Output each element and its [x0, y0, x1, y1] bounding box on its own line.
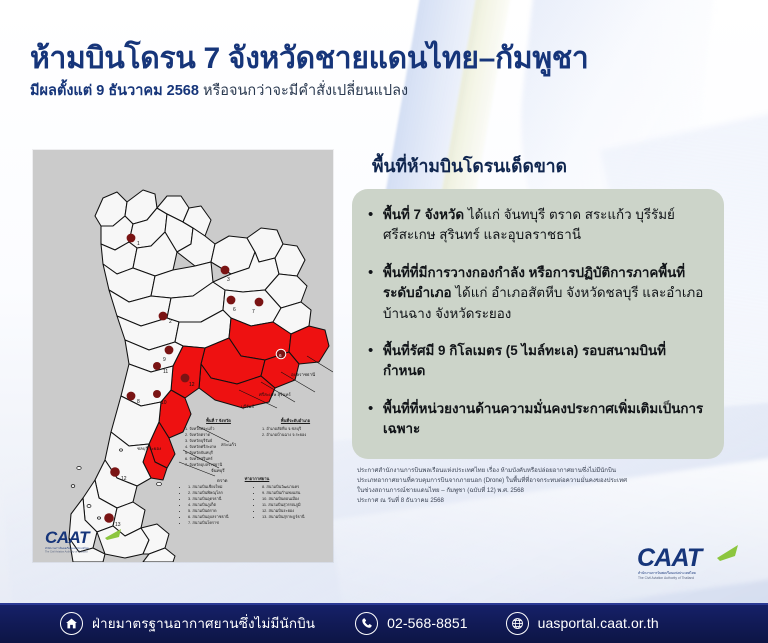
home-icon-svg	[65, 617, 78, 630]
svg-text:CAAT: CAAT	[45, 528, 91, 547]
legend-item: 7. จังหวัดอุบลราชธานี	[185, 462, 254, 468]
bullet-bold-text: พื้นที่ 7 จังหวัด	[383, 207, 464, 222]
map-legend: พื้นที่ 7 จังหวัด 1. จังหวัดสระแก้ว 2. จ…	[183, 418, 331, 526]
svg-text:6: 6	[233, 307, 236, 313]
caat-logo-small-svg: CAAT สำนักงานการบินพลเรือนแห่งประเทศไทย …	[45, 526, 131, 554]
map-panel: 1 2 7 3 6 6 9 11 8 10	[33, 150, 333, 562]
svg-text:10: 10	[161, 400, 167, 406]
bullet-bold-text: พื้นที่ที่หน่วยงานด้านความมั่นคงประกาศเพ…	[383, 401, 703, 436]
svg-text:3: 3	[227, 277, 230, 283]
footer-department-label: ฝ่ายมาตรฐานอากาศยานซึ่งไม่มีนักบิน	[92, 612, 315, 634]
footer-bar: ฝ่ายมาตรฐานอากาศยานซึ่งไม่มีนักบิน 02-56…	[0, 603, 768, 643]
legend-item: 2. อำเภอบ้านฉาง จ.ระยอง	[262, 432, 331, 438]
restrictions-box: พื้นที่ 7 จังหวัด ได้แก่ จันทบุรี ตราด ส…	[352, 189, 724, 459]
legend-provinces-list: 1. จังหวัดสระแก้ว 2. จังหวัดตราด 3. จังห…	[183, 426, 254, 468]
caat-logo-main: CAAT สำนักงานการบินพลเรือนแห่งประเทศไทย …	[637, 542, 747, 587]
legend-districts-heading: พื้นที่ระดับอำเภอ	[260, 418, 331, 424]
announcement-fineprint: ประกาศสำนักงานการบินพลเรือนแห่งประเทศไทย…	[357, 466, 747, 505]
legend-airports: ท่าอากาศยาน 1. สนามบินเชียงใหม่ 8. สนามบ…	[183, 476, 331, 526]
legend-item: 7. สนามบินโคราช	[188, 520, 257, 526]
svg-text:8: 8	[137, 399, 140, 405]
svg-text:สำนักงานการบินพลเรือนแห่งประเท: สำนักงานการบินพลเรือนแห่งประเทศไทย	[45, 546, 89, 550]
effective-date-rest: หรือจนกว่าจะมีคำสั่งเปลี่ยนแปลง	[199, 83, 408, 99]
svg-text:7: 7	[252, 309, 255, 315]
legend-airports-heading: ท่าอากาศยาน	[183, 476, 331, 482]
list-item: พื้นที่ที่หน่วยงานด้านความมั่นคงประกาศเพ…	[366, 399, 706, 440]
list-item: พื้นที่ 7 จังหวัด ได้แก่ จันทบุรี ตราด ส…	[366, 205, 706, 246]
bullet-bold-text: พื้นที่รัศมี 9 กิโลเมตร (5 ไมล์ทะเล) รอบ…	[383, 343, 666, 378]
list-item: พื้นที่รัศมี 9 กิโลเมตร (5 ไมล์ทะเล) รอบ…	[366, 341, 706, 382]
footer-phone[interactable]: 02-568-8851	[355, 612, 468, 635]
svg-text:12: 12	[189, 382, 195, 388]
fineprint-line: ประกาศ ณ วันที่ 8 ธันวาคม 2568	[357, 496, 747, 506]
phone-icon-svg	[361, 617, 373, 629]
svg-text:6: 6	[279, 353, 282, 358]
footer-website-label: uasportal.caat.or.th	[538, 615, 659, 631]
svg-text:บุรีรัมย์: บุรีรัมย์	[241, 404, 254, 410]
poster-header: ห้ามบินโดรน 7 จังหวัดชายแดนไทย–กัมพูชา ม…	[30, 42, 670, 100]
effective-date-strong: มีผลตั้งแต่ 9 ธันวาคม 2568	[30, 83, 199, 99]
legend-provinces: พื้นที่ 7 จังหวัด 1. จังหวัดสระแก้ว 2. จ…	[183, 418, 254, 468]
effective-date-line: มีผลตั้งแต่ 9 ธันวาคม 2568 หรือจนกว่าจะม…	[30, 83, 670, 100]
fineprint-line: ประกาศสำนักงานการบินพลเรือนแห่งประเทศไทย…	[357, 466, 747, 476]
section-title: พื้นที่ห้ามบินโดรนเด็ดขาด	[372, 152, 744, 180]
svg-text:11: 11	[163, 369, 168, 375]
legend-item: 13. สนามบินสุราษฎร์ธานี	[262, 514, 331, 520]
globe-icon-svg	[511, 617, 524, 630]
svg-text:The Civil Aviation Authority o: The Civil Aviation Authority of Thailand	[45, 551, 88, 554]
footer-website[interactable]: uasportal.caat.or.th	[506, 612, 659, 635]
fineprint-line: ประเภทอากาศยานที่ควบคุมการบินจากภายนอก (…	[357, 476, 747, 486]
legend-districts: พื้นที่ระดับอำเภอ 1. อำเภอสัตหีบ จ.ชลบุร…	[260, 418, 331, 468]
caat-logo-main-svg: CAAT สำนักงานการบินพลเรือนแห่งประเทศไทย …	[637, 542, 747, 582]
footer-department: ฝ่ายมาตรฐานอากาศยานซึ่งไม่มีนักบิน	[60, 612, 315, 635]
svg-text:The Civil Aviation Authority o: The Civil Aviation Authority of Thailand	[638, 576, 694, 580]
page-title: ห้ามบินโดรน 7 จังหวัดชายแดนไทย–กัมพูชา	[30, 42, 670, 76]
legend-airports-list: 1. สนามบินเชียงใหม่ 8. สนามบินวัฒนานคร 2…	[183, 484, 331, 526]
globe-icon	[506, 612, 529, 635]
svg-text:CAAT: CAAT	[637, 544, 705, 572]
content-column: พื้นที่ห้ามบินโดรนเด็ดขาด พื้นที่ 7 จังห…	[352, 152, 744, 459]
infographic-poster: ห้ามบินโดรน 7 จังหวัดชายแดนไทย–กัมพูชา ม…	[0, 0, 768, 643]
svg-text:1: 1	[137, 241, 140, 247]
footer-phone-label: 02-568-8851	[387, 615, 468, 631]
svg-text:12: 12	[121, 476, 127, 482]
legend-districts-list: 1. อำเภอสัตหีบ จ.ชลบุรี 2. อำเภอบ้านฉาง …	[260, 426, 331, 438]
list-item: พื้นที่ที่มีการวางกองกำลัง หรือการปฏิบัต…	[366, 263, 706, 324]
fineprint-line: ในช่วงสถานการณ์ชายแดนไทย – กัมพูชา (ฉบับ…	[357, 486, 747, 496]
home-icon	[60, 612, 83, 635]
svg-text:9: 9	[163, 357, 166, 363]
caat-logo-map: CAAT สำนักงานการบินพลเรือนแห่งประเทศไทย …	[45, 526, 131, 559]
phone-icon	[355, 612, 378, 635]
legend-top-columns: พื้นที่ 7 จังหวัด 1. จังหวัดสระแก้ว 2. จ…	[183, 418, 331, 468]
svg-text:สำนักงานการบินพลเรือนแห่งประเท: สำนักงานการบินพลเรือนแห่งประเทศไทย	[638, 570, 696, 575]
restrictions-list: พื้นที่ 7 จังหวัด ได้แก่ จันทบุรี ตราด ส…	[366, 205, 706, 439]
svg-text:2: 2	[169, 319, 172, 325]
legend-provinces-heading: พื้นที่ 7 จังหวัด	[183, 418, 254, 424]
